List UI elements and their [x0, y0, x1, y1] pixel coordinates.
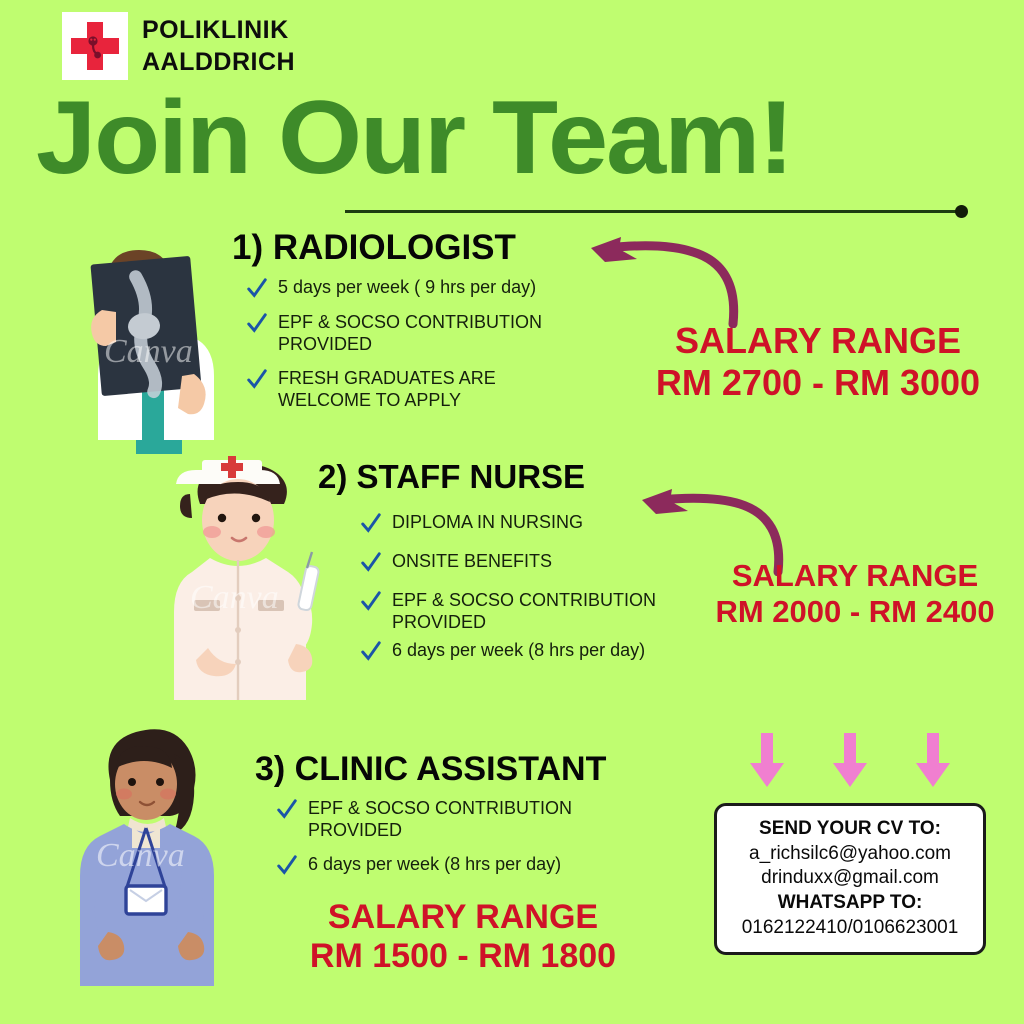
bullet-text: ONSITE BENEFITS — [392, 551, 552, 573]
check-icon — [276, 855, 298, 877]
arrow-down-icon — [911, 733, 955, 791]
brand-line-2: AALDDRICH — [142, 46, 295, 79]
bullet-text: 6 days per week (8 hrs per day) — [392, 640, 645, 662]
salary-value: RM 2000 - RM 2400 — [690, 594, 1020, 630]
title-divider-dot — [955, 205, 968, 218]
list-item: EPF & SOCSO CONTRIBUTION PROVIDED — [246, 312, 546, 356]
brand-name: POLIKLINIK AALDDRICH — [142, 14, 295, 79]
list-item: FRESH GRADUATES ARE WELCOME TO APPLY — [246, 368, 516, 412]
list-item: EPF & SOCSO CONTRIBUTION PROVIDED — [360, 590, 670, 634]
job-title-clinic-assistant: 3) CLINIC ASSISTANT — [255, 750, 606, 789]
check-icon — [360, 641, 382, 663]
whatsapp-numbers[interactable]: 0162122410/0106623001 — [725, 916, 975, 941]
check-icon — [246, 369, 268, 391]
list-item: 5 days per week ( 9 hrs per day) — [246, 277, 596, 300]
brand-line-1: POLIKLINIK — [142, 14, 295, 47]
job-bullets-radiologist: 5 days per week ( 9 hrs per day) EPF & S… — [246, 277, 596, 420]
email-address-2[interactable]: drinduxx@gmail.com — [725, 866, 975, 891]
check-icon — [246, 278, 268, 300]
page-title: Join Our Team! — [36, 86, 792, 190]
bullet-text: DIPLOMA IN NURSING — [392, 512, 583, 534]
curved-arrow-icon — [575, 232, 745, 328]
job-bullets-clinic-assistant: EPF & SOCSO CONTRIBUTION PROVIDED 6 days… — [276, 798, 626, 885]
check-icon — [246, 313, 268, 335]
salary-label: SALARY RANGE — [628, 320, 1008, 362]
email-address-1[interactable]: a_richsilc6@yahoo.com — [725, 842, 975, 867]
down-arrows-group — [745, 733, 955, 791]
salary-staff-nurse: SALARY RANGE RM 2000 - RM 2400 — [690, 558, 1020, 630]
clinic-assistant-illustration: Canva — [62, 718, 252, 1008]
check-icon — [360, 552, 382, 574]
clinic-logo — [62, 12, 128, 80]
poster-canvas: POLIKLINIK AALDDRICH Join Our Team! Canv… — [0, 0, 1024, 1024]
check-icon — [360, 513, 382, 535]
salary-value: RM 2700 - RM 3000 — [628, 362, 1008, 404]
send-cv-label: SEND YOUR CV TO: — [725, 817, 975, 842]
job-title-radiologist: 1) RADIOLOGIST — [232, 228, 516, 268]
salary-label: SALARY RANGE — [690, 558, 1020, 594]
bullet-text: 5 days per week ( 9 hrs per day) — [278, 277, 536, 299]
bullet-text: EPF & SOCSO CONTRIBUTION PROVIDED — [278, 312, 546, 356]
salary-label: SALARY RANGE — [278, 898, 648, 937]
check-icon — [360, 591, 382, 613]
whatsapp-label: WHATSAPP TO: — [725, 891, 975, 916]
salary-radiologist: SALARY RANGE RM 2700 - RM 3000 — [628, 320, 1008, 404]
radiologist-illustration: Canva — [44, 214, 254, 454]
bullet-text: FRESH GRADUATES ARE WELCOME TO APPLY — [278, 368, 516, 412]
salary-value: RM 1500 - RM 1800 — [278, 937, 648, 976]
contact-card: SEND YOUR CV TO: a_richsilc6@yahoo.com d… — [714, 803, 986, 955]
check-icon — [276, 799, 298, 821]
bullet-text: EPF & SOCSO CONTRIBUTION PROVIDED — [308, 798, 586, 842]
list-item: 6 days per week (8 hrs per day) — [276, 854, 626, 877]
brand-header: POLIKLINIK AALDDRICH — [62, 12, 295, 80]
list-item: 6 days per week (8 hrs per day) — [360, 640, 700, 663]
bullet-text: 6 days per week (8 hrs per day) — [308, 854, 561, 876]
arrow-down-icon — [745, 733, 789, 791]
bullet-text: EPF & SOCSO CONTRIBUTION PROVIDED — [392, 590, 670, 634]
job-title-staff-nurse: 2) STAFF NURSE — [318, 458, 585, 496]
red-cross-stethoscope-logo — [66, 17, 124, 75]
salary-clinic-assistant: SALARY RANGE RM 1500 - RM 1800 — [278, 898, 648, 977]
arrow-down-icon — [828, 733, 872, 791]
title-divider — [345, 210, 965, 213]
list-item: EPF & SOCSO CONTRIBUTION PROVIDED — [276, 798, 586, 842]
